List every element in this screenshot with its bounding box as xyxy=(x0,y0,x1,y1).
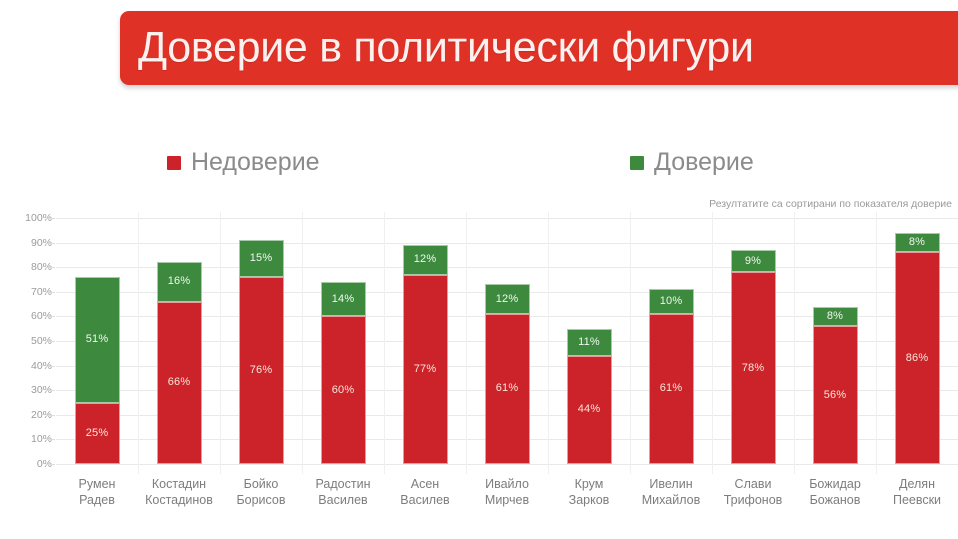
x-axis-category-labels: РуменРадевКостадинКостадиновБойкоБорисов… xyxy=(56,476,958,522)
category-label-line1: Асен xyxy=(411,477,439,491)
y-axis-tick-mark xyxy=(46,439,55,440)
bar-segment-trust[interactable]: 16% xyxy=(157,262,202,301)
category-label: КрумЗарков xyxy=(548,476,630,508)
category-label: ДелянПеевски xyxy=(876,476,958,508)
bar-segment-distrust[interactable]: 76% xyxy=(239,277,284,464)
category-label-line1: Бойко xyxy=(244,477,279,491)
bar-segment-distrust[interactable]: 44% xyxy=(567,356,612,464)
title-banner: Доверие в политически фигури xyxy=(120,11,958,85)
legend-label-trust: Доверие xyxy=(654,148,754,177)
y-axis: 100%90%80%70%60%50%40%30%20%10%0% xyxy=(0,212,52,474)
bar-group[interactable]: 86%8% xyxy=(895,218,940,464)
page-title: Доверие в политически фигури xyxy=(138,24,754,73)
bar-value-label: 9% xyxy=(745,256,761,267)
chart-legend: НедовериеДоверие xyxy=(0,144,958,184)
category-label-line2: Михайлов xyxy=(630,492,712,508)
category-label: БожидарБожанов xyxy=(794,476,876,508)
chart-page: Доверие в политически фигури НедовериеДо… xyxy=(0,0,958,539)
category-label-line1: Слави xyxy=(735,477,772,491)
category-label-line2: Борисов xyxy=(220,492,302,508)
bar-group[interactable]: 61%10% xyxy=(649,218,694,464)
legend-swatch-distrust xyxy=(167,156,181,170)
legend-entry-trust[interactable]: Доверие xyxy=(630,148,754,177)
bar-segment-distrust[interactable]: 60% xyxy=(321,316,366,464)
category-label: РуменРадев xyxy=(56,476,138,508)
bar-value-label: 51% xyxy=(86,334,109,345)
category-label-line1: Крум xyxy=(575,477,604,491)
category-label-line2: Мирчев xyxy=(466,492,548,508)
bar-segment-distrust[interactable]: 86% xyxy=(895,252,940,464)
bar-segment-distrust[interactable]: 25% xyxy=(75,403,120,465)
bar-segment-trust[interactable]: 9% xyxy=(731,250,776,272)
bar-value-label: 86% xyxy=(906,353,929,364)
category-label-line2: Трифонов xyxy=(712,492,794,508)
legend-label-distrust: Недоверие xyxy=(191,148,320,177)
bar-segment-trust[interactable]: 14% xyxy=(321,282,366,316)
category-label-line1: Ивелин xyxy=(649,477,692,491)
bar-value-label: 61% xyxy=(496,383,519,394)
chart-note: Резултатите са сортирани по показателя д… xyxy=(709,198,952,210)
category-label-line2: Василев xyxy=(302,492,384,508)
bar-value-label: 16% xyxy=(168,276,191,287)
bar-group[interactable]: 25%51% xyxy=(75,218,120,464)
bar-segment-trust[interactable]: 11% xyxy=(567,329,612,356)
bar-group[interactable]: 77%12% xyxy=(403,218,448,464)
y-axis-tick-mark xyxy=(46,366,55,367)
bar-value-label: 12% xyxy=(414,254,437,265)
category-label: ИвайлоМирчев xyxy=(466,476,548,508)
bar-segment-distrust[interactable]: 66% xyxy=(157,302,202,464)
bar-segment-distrust[interactable]: 78% xyxy=(731,272,776,464)
bar-segment-distrust[interactable]: 61% xyxy=(485,314,530,464)
y-axis-tick-mark xyxy=(46,316,55,317)
plot-area: 100%90%80%70%60%50%40%30%20%10%0% 25%51%… xyxy=(0,212,958,474)
category-label-line2: Костадинов xyxy=(138,492,220,508)
bar-segment-trust[interactable]: 12% xyxy=(403,245,448,275)
bar-value-label: 8% xyxy=(909,237,925,248)
bar-value-label: 14% xyxy=(332,294,355,305)
bar-value-label: 60% xyxy=(332,385,355,396)
bar-value-label: 10% xyxy=(660,296,683,307)
category-label-line2: Радев xyxy=(56,492,138,508)
bar-segment-trust[interactable]: 12% xyxy=(485,284,530,314)
bar-value-label: 56% xyxy=(824,390,847,401)
category-label: СлавиТрифонов xyxy=(712,476,794,508)
category-label-line1: Божидар xyxy=(809,477,861,491)
category-label-line2: Василев xyxy=(384,492,466,508)
bar-segment-distrust[interactable]: 77% xyxy=(403,275,448,464)
bar-group[interactable]: 78%9% xyxy=(731,218,776,464)
bar-group[interactable]: 61%12% xyxy=(485,218,530,464)
bar-group[interactable]: 44%11% xyxy=(567,218,612,464)
bar-segment-distrust[interactable]: 56% xyxy=(813,326,858,464)
category-label-line1: Румен xyxy=(79,477,116,491)
y-axis-tick-mark xyxy=(46,218,55,219)
category-label: РадостинВасилев xyxy=(302,476,384,508)
category-label-line1: Костадин xyxy=(152,477,206,491)
bar-segment-trust[interactable]: 10% xyxy=(649,289,694,314)
category-label-line2: Пеевски xyxy=(876,492,958,508)
category-label: КостадинКостадинов xyxy=(138,476,220,508)
category-label-line2: Зарков xyxy=(548,492,630,508)
bar-value-label: 11% xyxy=(578,337,600,348)
bar-value-label: 78% xyxy=(742,363,765,374)
bar-value-label: 61% xyxy=(660,383,683,394)
bar-value-label: 77% xyxy=(414,364,437,375)
category-label: АсенВасилев xyxy=(384,476,466,508)
bar-series-container: 25%51%66%16%76%15%60%14%77%12%61%12%44%1… xyxy=(56,212,958,474)
bar-value-label: 25% xyxy=(86,428,109,439)
bar-value-label: 8% xyxy=(827,311,843,322)
bar-segment-trust[interactable]: 8% xyxy=(895,233,940,253)
legend-entry-distrust[interactable]: Недоверие xyxy=(167,148,320,177)
bar-segment-trust[interactable]: 8% xyxy=(813,307,858,327)
category-label-line1: Ивайло xyxy=(485,477,529,491)
category-label: ИвелинМихайлов xyxy=(630,476,712,508)
bar-value-label: 44% xyxy=(578,404,601,415)
bar-value-label: 66% xyxy=(168,377,191,388)
legend-swatch-trust xyxy=(630,156,644,170)
y-axis-tick-mark xyxy=(46,243,55,244)
category-label: БойкоБорисов xyxy=(220,476,302,508)
bar-segment-trust[interactable]: 51% xyxy=(75,277,120,402)
y-axis-tick-mark xyxy=(46,341,55,342)
bar-segment-trust[interactable]: 15% xyxy=(239,240,284,277)
bar-group[interactable]: 66%16% xyxy=(157,218,202,464)
bar-group[interactable]: 60%14% xyxy=(321,218,366,464)
bar-group[interactable]: 76%15% xyxy=(239,218,284,464)
y-axis-tick-mark xyxy=(46,415,55,416)
y-axis-tick-mark xyxy=(46,292,55,293)
category-label-line2: Божанов xyxy=(794,492,876,508)
bar-group[interactable]: 56%8% xyxy=(813,218,858,464)
bar-segment-distrust[interactable]: 61% xyxy=(649,314,694,464)
y-axis-tick-mark xyxy=(46,390,55,391)
bar-value-label: 12% xyxy=(496,294,519,305)
category-label-line1: Делян xyxy=(899,477,935,491)
bar-value-label: 15% xyxy=(250,253,273,264)
bar-value-label: 76% xyxy=(250,365,273,376)
y-axis-tick-mark xyxy=(46,464,55,465)
category-label-line1: Радостин xyxy=(316,477,371,491)
y-axis-tick-mark xyxy=(46,267,55,268)
